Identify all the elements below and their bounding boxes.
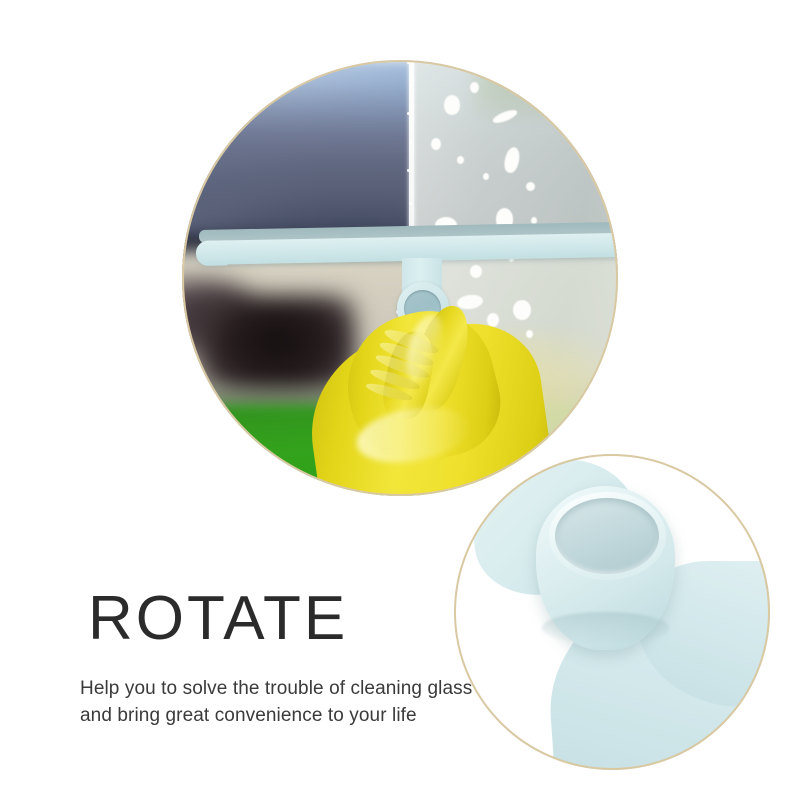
rotating-joint-closeup xyxy=(454,454,770,770)
main-product-photo xyxy=(182,60,618,496)
subtitle-line-2: and bring great convenience to your life xyxy=(80,703,500,730)
marketing-text-block: ROTATE Help you to solve the trouble of … xyxy=(80,588,500,730)
page-title: ROTATE xyxy=(88,588,500,650)
squeegee-left-tip xyxy=(196,240,227,266)
subtitle-line-1: Help you to solve the trouble of cleanin… xyxy=(80,676,500,703)
hero-photo-layers xyxy=(182,60,618,496)
product-graphic-canvas: ROTATE Help you to solve the trouble of … xyxy=(0,0,800,800)
inset-pivot-dome-button xyxy=(555,498,659,574)
inset-collar-seam xyxy=(542,612,668,644)
